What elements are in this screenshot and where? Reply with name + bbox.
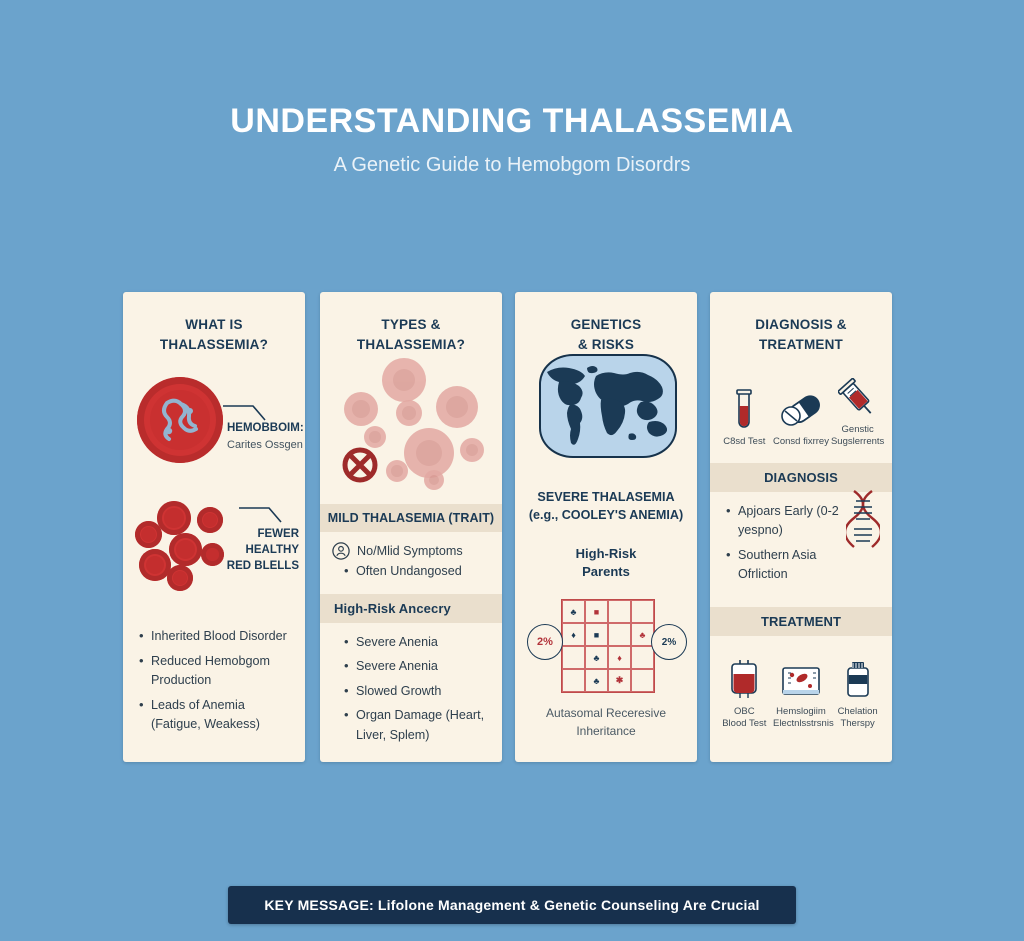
grid-cell: ■ xyxy=(585,600,608,623)
no-mild-symptoms-row: No/Mlid Symptoms xyxy=(320,532,502,560)
test-tube-icon xyxy=(733,388,755,432)
card-grid: WHAT IS THALASSEMIA? HEMOBBOIM: Carites xyxy=(123,292,893,762)
lab-slide-label: Hemslogiim Electnlsstrsnis xyxy=(773,706,829,731)
icon-test-tube: C8sd Test xyxy=(716,386,772,448)
pills-icon xyxy=(779,392,823,432)
dna-helix-icon xyxy=(846,489,880,551)
icon-blood-bag: OBC Blood Test xyxy=(716,656,772,731)
percent-badge-left: 2% xyxy=(527,624,563,660)
icon-pills: Consd fixrrey xyxy=(773,386,829,448)
card1-title: WHAT IS THALASSEMIA? xyxy=(133,315,295,354)
no-entry-x-icon xyxy=(342,447,378,483)
list-item: Organ Damage (Heart, Liver, Splem) xyxy=(344,706,492,745)
callout-hemoglobin: HEMOBBOIM: Carites Ossgen xyxy=(227,420,305,454)
syringe-label: Genstic Sugslerrents xyxy=(830,424,886,449)
callout-fewer-cells: FEWER HEALTHY RED BLELLS xyxy=(223,526,299,574)
list-item: Southern Asia Ofrliction xyxy=(726,546,844,585)
grid-cell xyxy=(562,669,585,692)
pills-label: Consd fixrrey xyxy=(773,436,829,448)
percent-badge-right: 2% xyxy=(651,624,687,660)
banner-diagnosis: DIAGNOSIS xyxy=(710,463,892,492)
list-item: Inherited Blood Disorder xyxy=(139,627,295,647)
card2-bullet-list-1: Often Undangosed xyxy=(320,560,502,582)
blood-bag-label: OBC Blood Test xyxy=(716,706,772,731)
card-diagnosis-treatment[interactable]: DIAGNOSIS & TREATMENT C8sd Test xyxy=(710,292,892,762)
banner-high-risk-ancestry: High-Risk Ancecry xyxy=(320,594,502,623)
test-tube-label: C8sd Test xyxy=(716,436,772,448)
card2-title: TYPES & THALASSEMIA? xyxy=(330,315,492,354)
card1-bullet-list: Inherited Blood Disorder Reduced Hemobgo… xyxy=(123,617,305,740)
high-risk-parents-label: High-Risk Parents xyxy=(515,545,697,580)
blood-bag-icon xyxy=(729,658,759,702)
callout-leader-line-2 xyxy=(239,504,283,526)
key-message-text: KEY MESSAGE: Lifolone Management & Genet… xyxy=(264,897,759,913)
icon-syringe: Genstic Sugslerrents xyxy=(830,374,886,449)
page-title: UNDERSTANDING THALASSEMIA xyxy=(0,103,1024,140)
grid-cell: ♦ xyxy=(562,623,585,646)
icon-lab-slide: Hemslogiim Electnlsstrsnis xyxy=(773,656,829,731)
list-item: Reduced Hemobgom Production xyxy=(139,652,295,691)
list-item: Slowed Growth xyxy=(344,682,492,702)
lab-slide-icon xyxy=(780,664,822,702)
no-mild-symptoms-label: No/Mlid Symptoms xyxy=(357,544,463,558)
grid-cell xyxy=(562,646,585,669)
inheritance-label: Autasomal Receresive Inheritance xyxy=(515,704,697,740)
grid-cell xyxy=(631,669,654,692)
list-item: Apjoars Early (0-2 yespno) xyxy=(726,502,844,541)
grid-cell: ♣ xyxy=(585,646,608,669)
red-blood-cell-icon xyxy=(137,377,223,463)
grid-cell: ♦ xyxy=(608,646,631,669)
banner-treatment: TREATMENT xyxy=(710,607,892,636)
infographic-poster: UNDERSTANDING THALASSEMIA A Genetic Guid… xyxy=(0,0,1024,941)
hemoglobin-icon xyxy=(157,395,203,445)
medicine-bottle-label: Chelation Therspy xyxy=(830,706,886,731)
card-genetics-risks[interactable]: GENETICS & RISKS xyxy=(515,292,697,762)
card-types-thalassemia[interactable]: TYPES & THALASSEMIA? MILD THALASEMIA (TR xyxy=(320,292,502,762)
grid-cell xyxy=(631,646,654,669)
grid-cell: ♣ xyxy=(562,600,585,623)
treatment-icon-row: OBC Blood Test xyxy=(710,644,892,731)
punnett-square-grid: ♣ ■ ♦ ■ ♣ ♣ ♦ ♣ ✱ xyxy=(561,599,655,693)
banner-mild-thalassemia: MILD THALASEMIA (TRAIT) xyxy=(320,504,502,532)
person-icon xyxy=(332,542,350,560)
card-what-is-thalassemia[interactable]: WHAT IS THALASSEMIA? HEMOBBOIM: Carites xyxy=(123,292,305,762)
key-message-banner: KEY MESSAGE: Lifolone Management & Genet… xyxy=(228,886,796,924)
grid-cell: ♣ xyxy=(585,669,608,692)
grid-cell xyxy=(608,623,631,646)
grid-cell: ✱ xyxy=(608,669,631,692)
syringe-icon xyxy=(838,378,878,420)
poster-header: UNDERSTANDING THALASSEMIA A Genetic Guid… xyxy=(0,103,1024,177)
grid-cell: ■ xyxy=(585,623,608,646)
card2-bullet-list-2: Severe Anenia Severe Anenia Slowed Growt… xyxy=(320,623,502,746)
world-map-continents xyxy=(541,356,671,452)
list-item: Severe Anenia xyxy=(344,633,492,653)
world-map-icon xyxy=(539,354,677,458)
diagnosis-icon-row: C8sd Test Co xyxy=(710,362,892,449)
severe-thalassemia-label: SEVERE THALASEMIA (e.g., COOLEY'S ANEMIA… xyxy=(515,488,697,525)
grid-cell xyxy=(631,600,654,623)
grid-cell xyxy=(608,600,631,623)
list-item: Severe Anenia xyxy=(344,657,492,677)
page-subtitle: A Genetic Guide to Hemobgom Disordrs xyxy=(0,154,1024,177)
list-item: Often Undangosed xyxy=(344,562,492,582)
icon-medicine-bottle: Chelation Therspy xyxy=(830,656,886,731)
card4-diagnosis-bullets: Apjoars Early (0-2 yespno) Southern Asia… xyxy=(710,492,854,585)
card4-title: DIAGNOSIS & TREATMENT xyxy=(720,315,882,354)
medicine-bottle-icon xyxy=(844,660,872,702)
card3-title: GENETICS & RISKS xyxy=(525,315,687,354)
list-item: Leads of Anemia (Fatigue, Weakess) xyxy=(139,696,295,735)
